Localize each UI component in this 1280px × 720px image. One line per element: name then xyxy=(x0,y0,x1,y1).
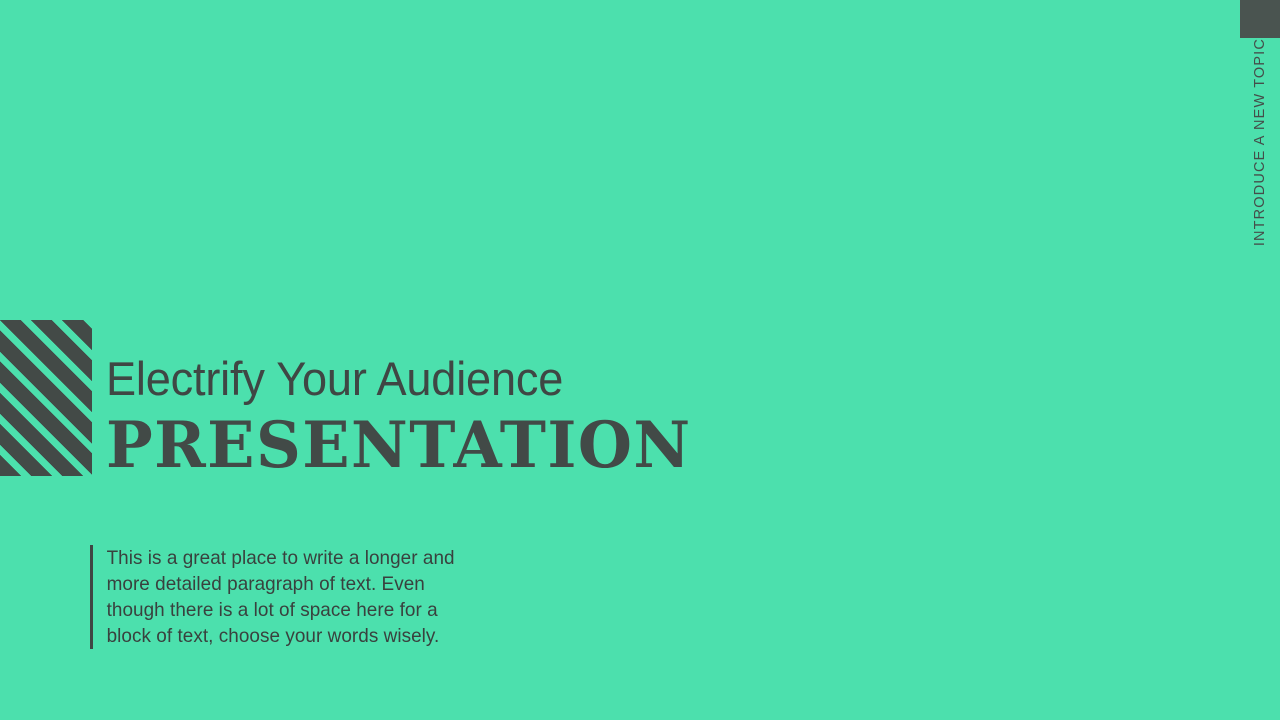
headline-group: Electrify Your Audience PRESENTATION xyxy=(106,355,866,478)
side-label: INTRODUCE A NEW TOPIC xyxy=(1240,38,1280,286)
body-paragraph-group: This is a great place to write a longer … xyxy=(90,545,470,649)
corner-tab-decoration xyxy=(1240,0,1280,38)
diagonal-stripes-icon xyxy=(0,320,92,476)
slide-title: PRESENTATION xyxy=(106,414,843,478)
body-paragraph-text: This is a great place to write a longer … xyxy=(93,545,459,649)
slide-subtitle: Electrify Your Audience xyxy=(106,355,836,402)
presentation-title-slide: INTRODUCE A NEW TOPIC Electrify Your Aud… xyxy=(0,0,1280,720)
side-label-text: INTRODUCE A NEW TOPIC xyxy=(1240,38,1280,246)
